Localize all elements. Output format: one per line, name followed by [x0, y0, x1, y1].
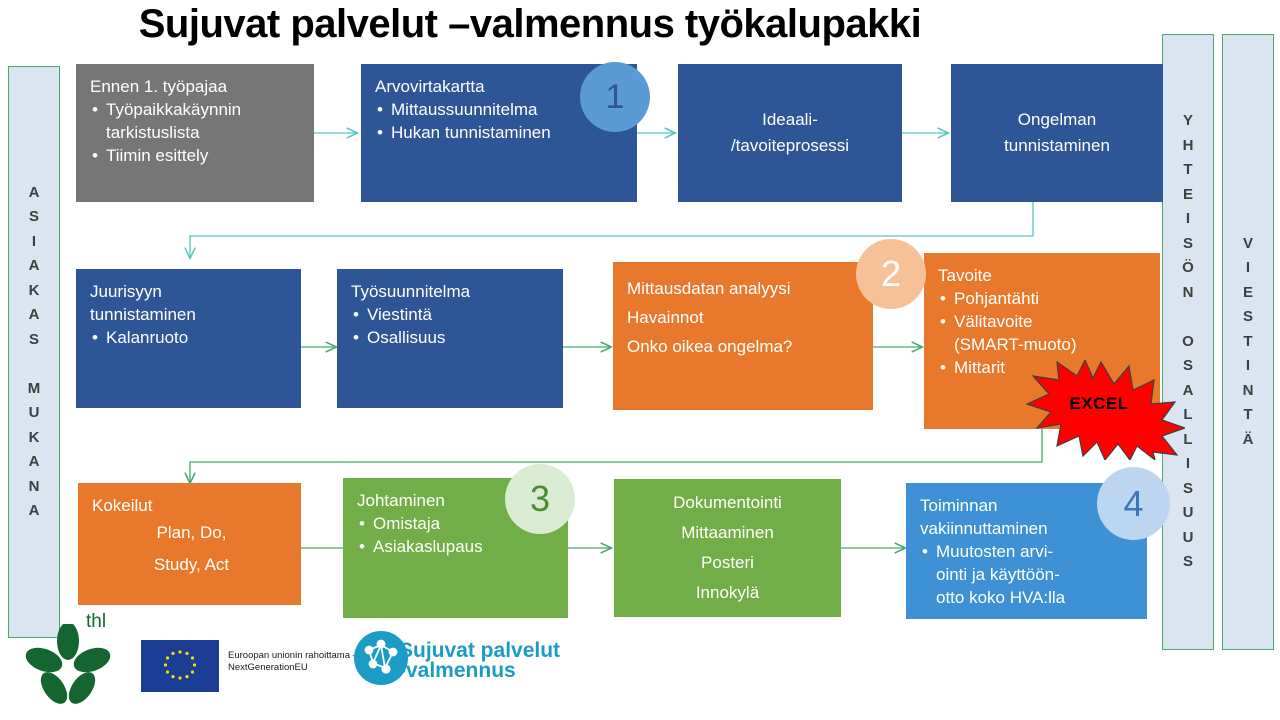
box-ideaali-tavoiteprosessi[interactable]: Ideaali- /tavoiteprosessi: [678, 64, 902, 202]
box-toiminnan-vakiinnuttaminen-list: Muutosten arvi- ointi ja käyttöön- otto …: [920, 540, 1139, 609]
list-item: Kalanruoto: [90, 326, 291, 349]
thl-flower-icon: [25, 624, 111, 704]
box-juurisyyn-tunnistaminen-list: Kalanruoto: [90, 326, 291, 349]
list-item: Välitavoite (SMART-muoto): [938, 310, 1152, 356]
box-mittausdatan-analyysi[interactable]: Mittausdatan analyysi Havainnot Onko oik…: [613, 262, 873, 410]
excel-starburst: EXCEL: [1017, 360, 1185, 460]
badge-step-4: 4: [1097, 467, 1170, 540]
badge-step-3: 3: [505, 464, 575, 534]
box-ongelman-tunnistaminen[interactable]: Ongelman tunnistaminen: [951, 64, 1163, 202]
box-juurisyyn-tunnistaminen-title: Juurisyyn tunnistaminen: [90, 280, 291, 326]
box-kokeilut[interactable]: Kokeilut Plan, Do, Study, Act: [78, 483, 301, 605]
slide-canvas: Sujuvat palvelut –valmennus työkalupakki…: [0, 0, 1280, 720]
box-mittausdatan-analyysi-label: Mittausdatan analyysi Havainnot Onko oik…: [627, 274, 863, 361]
box-tyosuunnitelma-title: Työsuunnitelma: [351, 280, 553, 303]
list-item: Hukan tunnistaminen: [375, 121, 627, 144]
list-item: Viestintä: [351, 303, 553, 326]
box-kokeilut-lines: Plan, Do, Study, Act: [92, 517, 291, 581]
list-item: Työpaikkakäynnin tarkistuslista: [90, 98, 304, 144]
badge-step-2: 2: [856, 239, 926, 309]
badge-step-3-label: 3: [530, 478, 550, 520]
badge-step-4-label: 4: [1123, 483, 1143, 525]
list-item: Tiimin esittely: [90, 144, 304, 167]
box-ongelman-tunnistaminen-label: Ongelman tunnistaminen: [1004, 107, 1110, 159]
box-tavoite-title: Tavoite: [938, 264, 1152, 287]
box-ennen-tyopajaa[interactable]: Ennen 1. työpajaa Työpaikkakäynnin tarki…: [76, 64, 314, 202]
box-tyosuunnitelma-list: Viestintä Osallisuus: [351, 303, 553, 349]
box-dokumentointi[interactable]: Dokumentointi Mittaaminen Posteri Innoky…: [614, 479, 841, 617]
box-kokeilut-title: Kokeilut: [92, 494, 291, 517]
badge-step-2-label: 2: [881, 253, 901, 295]
eu-flag-icon: [141, 640, 219, 692]
box-dokumentointi-label: Dokumentointi Mittaaminen Posteri Innoky…: [673, 488, 782, 608]
box-ideaali-tavoiteprosessi-label: Ideaali- /tavoiteprosessi: [731, 107, 849, 159]
box-ennen-tyopajaa-list: Työpaikkakäynnin tarkistuslista Tiimin e…: [90, 98, 304, 167]
excel-starburst-label: EXCEL: [1069, 394, 1128, 414]
list-item: Osallisuus: [351, 326, 553, 349]
list-item: Asiakaslupaus: [357, 535, 558, 558]
badge-step-1: 1: [580, 62, 650, 132]
sujuvat-palvelut-wordmark: Sujuvat palvelut -valmennus: [399, 641, 560, 681]
badge-step-1-label: 1: [606, 78, 625, 117]
box-juurisyyn-tunnistaminen[interactable]: Juurisyyn tunnistaminen Kalanruoto: [76, 269, 301, 408]
box-tyosuunnitelma[interactable]: Työsuunnitelma Viestintä Osallisuus: [337, 269, 563, 408]
box-ennen-tyopajaa-title: Ennen 1. työpajaa: [90, 75, 304, 98]
eu-stars-icon: [141, 640, 219, 692]
list-item: Pohjantähti: [938, 287, 1152, 310]
list-item: Muutosten arvi- ointi ja käyttöön- otto …: [920, 540, 1139, 609]
thl-wordmark: thl: [86, 611, 106, 633]
